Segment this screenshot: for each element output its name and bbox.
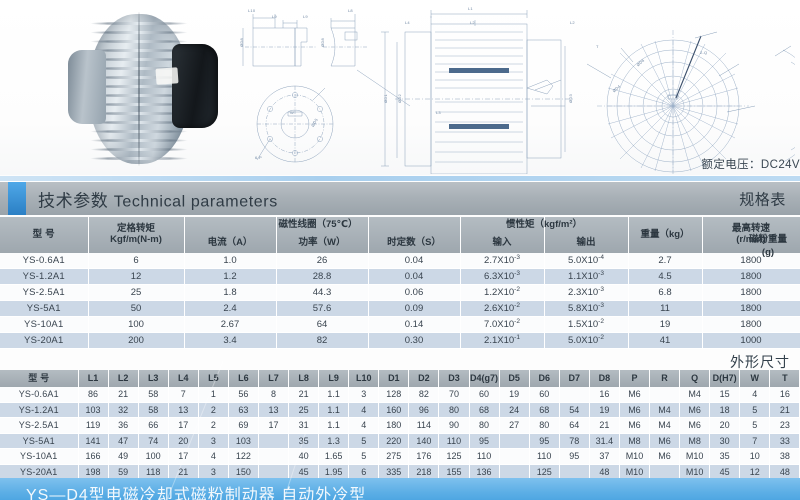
inertia-input-cell: 6.3X10-3 [460,269,544,285]
inertia-input-cell: 7.0X10-2 [460,317,544,333]
dim-cell-L6: 56 [228,387,258,402]
dim-cell-W: 5 [740,402,770,418]
table-row: YS-10A116649100174122401.655275176125110… [0,449,800,465]
dim-cell-P: M8 [619,433,649,449]
inertia-input-cell: 1.2X10-2 [460,285,544,301]
dim-cell-T: 23 [770,418,800,434]
dim-cell-D6: 68 [529,402,559,418]
dim-cell-L8: 31 [289,418,319,434]
max-speed-cell: 1800 [702,317,800,333]
dim-cell-Q: M10 [680,449,710,465]
dim-cell-D5: 24 [499,402,529,418]
dim-cell-D3: 110 [439,433,469,449]
dim-cell-R: M6 [649,433,679,449]
inertia-output-cell: 5.0X10-2 [544,333,628,349]
spec-table-header-row: 型 号 定格转矩 Kgf/m(N-m) 磁性线圈（75℃） 电流（A） 功率（W… [0,217,800,253]
th-inertia-in-label: 输入 [461,238,544,249]
nameplate [155,67,178,84]
th-inertia-group: 惯性矩（kgf/m²） [460,220,544,231]
dim-cell-L7: 8 [258,387,288,402]
table-row: YS-5A11414774203103351.35220140110959578… [0,433,800,449]
dim-cell-L1: 166 [78,449,108,465]
dimension-table-body: YS-0.6A186215871568211.13128827060196016… [0,387,800,480]
coil-case [172,44,218,128]
drawing-label-w: W [290,110,294,115]
dim-cell-W: 10 [740,449,770,465]
time-const-cell: 0.06 [368,285,460,301]
spec-table-body: YS-0.6A161.0260.042.7X10-35.0X10-42.7180… [0,253,800,349]
weight-cell: 41 [628,333,702,349]
section-title: 技术参数 Technical parameters [38,186,278,211]
dim-cell-D4(g7): 95 [469,433,499,449]
dim-cell-D7 [559,387,589,402]
inertia-input-cell: 2.6X10-2 [460,301,544,317]
dimension-table: 型 号L1L2L3L4L5L6L7L8L9L10D1D2D3D4(g7)D5D6… [0,370,800,480]
th-inertia-out-label: 输出 [545,238,628,249]
dim-th-d5: D5 [499,370,529,387]
dim-cell-L2: 47 [108,433,138,449]
dim-cell-W: 4 [740,387,770,402]
dim-cell-L9: 1.1 [319,418,349,434]
table-row: YS-1.2A1121.228.80.046.3X10-31.1X10-34.5… [0,269,800,285]
drawing-label-d1: ØD1 [383,94,388,103]
table-row: YS-10A11002.67640.147.0X10-21.5X10-21918… [0,317,800,333]
dim-cell-D6: 95 [529,433,559,449]
dim-th-d(h7): D(H7) [710,370,740,387]
drawing-label-l2a: L2 [470,20,475,25]
th-powder-label: 磁粉重量 [738,235,798,246]
dim-cell-D2: 176 [409,449,439,465]
drawing-label-holes-6p: 6-P [255,155,262,160]
time-const-cell: 0.09 [368,301,460,317]
dim-cell-L7: 13 [258,402,288,418]
dim-th-l1: L1 [78,370,108,387]
table-row: YS-5A1502.457.60.092.6X10-25.8X10-311180… [0,301,800,317]
dim-cell-L9: 1.1 [319,387,349,402]
dim-cell-L1: 119 [78,418,108,434]
torque-cell: 25 [88,285,184,301]
inertia-input-cell: 2.1X10-1 [460,333,544,349]
dim-cell-D2: 96 [409,402,439,418]
dim-cell-L8: 25 [289,402,319,418]
dim-cell-L2: 36 [108,418,138,434]
dim-cell-D3: 90 [439,418,469,434]
dim-cell-D3: 70 [439,387,469,402]
spec-table: 型 号 定格转矩 Kgf/m(N-m) 磁性线圈（75℃） 电流（A） 功率（W… [0,217,800,349]
dim-cell-D6: 110 [529,449,559,465]
drawing-label-l9a: L9 [272,14,277,19]
dim-cell-Q: M6 [680,418,710,434]
dim-cell-L4: 20 [168,433,198,449]
torque-cell: 200 [88,333,184,349]
dim-cell-D(H7): 35 [710,449,740,465]
current-cell: 2.4 [184,301,276,317]
dim-cell-L4: 17 [168,418,198,434]
dim-cell-L6: 63 [228,402,258,418]
dim-th-l8: L8 [289,370,319,387]
dim-cell-D4(g7): 80 [469,418,499,434]
dim-cell-D(H7): 18 [710,402,740,418]
dim-cell-R: M4 [649,418,679,434]
dim-cell-W: 7 [740,433,770,449]
dim-cell-D2: 140 [409,433,439,449]
dim-th-q: Q [680,370,710,387]
dim-cell-D7: 64 [559,418,589,434]
inertia-output-cell: 5.0X10-4 [544,253,628,269]
th-torque-unit: Kgf/m(N-m) [89,235,184,246]
weight-cell: 19 [628,317,702,333]
model-cell: YS-0.6A1 [0,253,88,269]
weight-cell: 4.5 [628,269,702,285]
dim-cell-L9: 1.3 [319,433,349,449]
dim-cell-L1: 103 [78,402,108,418]
section-title-cn: 技术参数 [38,191,108,210]
dim-cell-L4: 13 [168,402,198,418]
th-powder-unit: (g) [738,248,798,259]
dim-cell-L1: 141 [78,433,108,449]
power-cell: 64 [276,317,368,333]
dim-th-l6: L6 [228,370,258,387]
model-cell: YS-0.6A1 [0,387,78,402]
dim-th-l4: L4 [168,370,198,387]
dim-cell-W: 5 [740,418,770,434]
table-row: YS-2.5A1251.844.30.061.2X10-22.3X10-36.8… [0,285,800,301]
dim-cell-L10: 5 [349,449,379,465]
dim-cell-L4: 7 [168,387,198,402]
time-const-cell: 0.04 [368,253,460,269]
dim-cell-D5: 19 [499,387,529,402]
dim-cell-L2: 32 [108,402,138,418]
model-cell: YS-5A1 [0,433,78,449]
dim-cell-D2: 82 [409,387,439,402]
dim-th-d3: D3 [439,370,469,387]
max-speed-cell: 1800 [702,269,800,285]
drawing-label-l9b: L9 [303,14,308,19]
dim-cell-T: 38 [770,449,800,465]
table-row: YS-20A12003.4820.302.1X10-15.0X10-241100… [0,333,800,349]
th-model: 型 号 [0,217,88,253]
dimension-table-wrapper: 型 号L1L2L3L4L5L6L7L8L9L10D1D2D3D4(g7)D5D6… [0,370,800,480]
dim-cell-L5: 2 [198,402,228,418]
dim-cell-R: M6 [649,449,679,465]
torque-cell: 50 [88,301,184,317]
dim-cell-D(H7): 30 [710,433,740,449]
dim-cell-D7: 95 [559,449,589,465]
weight-cell: 6.8 [628,285,702,301]
th-inertia-in: 惯性矩（kgf/m²） 输入 [460,217,544,253]
dim-cell-L3: 100 [138,449,168,465]
max-speed-cell: 1800 [702,301,800,317]
dim-cell-D4(g7): 60 [469,387,499,402]
model-cell: YS-2.5A1 [0,418,78,434]
dimension-table-header-row: 型 号L1L2L3L4L5L6L7L8L9L10D1D2D3D4(g7)D5D6… [0,370,800,387]
model-cell: YS-20A1 [0,333,88,349]
current-cell: 2.67 [184,317,276,333]
current-cell: 1.0 [184,253,276,269]
time-const-cell: 0.14 [368,317,460,333]
banner-accent-bar [8,182,26,215]
dim-cell-L8: 35 [289,433,319,449]
dim-cell-L6: 122 [228,449,258,465]
dim-cell-D5: 27 [499,418,529,434]
dim-cell-L8: 21 [289,387,319,402]
dim-cell-L3: 58 [138,387,168,402]
drawing-label-l3: L3 [436,110,441,115]
drawing-label-l4: L4 [405,20,410,25]
dim-cell-D3: 125 [439,449,469,465]
power-cell: 44.3 [276,285,368,301]
table-row: YS-0.6A186215871568211.13128827060196016… [0,387,800,402]
dim-th-p: P [619,370,649,387]
dim-cell-P: M6 [619,402,649,418]
inertia-output-cell: 1.5X10-2 [544,317,628,333]
dim-cell-D8: 21 [589,418,619,434]
dim-th-l2: L2 [108,370,138,387]
inertia-output-cell: 2.3X10-3 [544,285,628,301]
dim-cell-P: M6 [619,418,649,434]
drawing-label-d2: ØD2 [397,94,402,103]
model-cell: YS-1.2A1 [0,269,88,285]
table-row: YS-0.6A161.0260.042.7X10-35.0X10-42.7180… [0,253,800,269]
th-time-const-label: 时定数（S） [369,238,460,249]
th-coil-group: 磁性线圈（75℃） [184,220,276,231]
max-speed-cell: 1000 [702,333,800,349]
current-cell: 1.2 [184,269,276,285]
dim-cell-T: 33 [770,433,800,449]
dim-cell-Q: M8 [680,433,710,449]
th-power-label: 功率（W） [277,238,368,249]
table-row: YS-2.5A111936661726917311.14180114908027… [0,418,800,434]
model-cell: YS-1.2A1 [0,402,78,418]
drawing-label-l8: L8 [348,8,353,13]
dim-th-t: T [770,370,800,387]
weight-cell: 2.7 [628,253,702,269]
dim-cell-D3: 80 [439,402,469,418]
drawing-label-holes-2q: 2-Q [700,50,707,55]
dim-cell-T: 16 [770,387,800,402]
dim-cell-L7 [258,449,288,465]
dim-th-l7: L7 [258,370,288,387]
dim-cell-L3: 66 [138,418,168,434]
model-cell: YS-10A1 [0,317,88,333]
dim-cell-D4(g7): 68 [469,402,499,418]
illustration-area: L10 L9 L9 L8 ØD8 ØD8 6-P W ØD5 L1 L4 L2 … [0,0,800,175]
max-speed-cell: 1800 [702,285,800,301]
dim-cell-D1: 160 [379,402,409,418]
dim-cell-L7 [258,433,288,449]
dim-th-d4(g7): D4(g7) [469,370,499,387]
dimension-section-title: 外形尺寸 [730,352,790,372]
dim-th-w: W [740,370,770,387]
current-cell: 1.8 [184,285,276,301]
dim-cell-D1: 128 [379,387,409,402]
table-row: YS-1.2A110332581326313251.14160968068246… [0,402,800,418]
dim-cell-R [649,387,679,402]
footer-bar: YS—D4型电磁冷却式磁粉制动器 自动外冷型 [0,478,800,500]
dim-cell-L6: 103 [228,433,258,449]
spec-table-wrapper: 型 号 定格转矩 Kgf/m(N-m) 磁性线圈（75℃） 电流（A） 功率（W… [0,217,800,349]
dim-cell-D1: 275 [379,449,409,465]
time-const-cell: 0.30 [368,333,460,349]
model-cell: YS-2.5A1 [0,285,88,301]
dim-cell-L10: 5 [349,433,379,449]
drawing-label-d8b: ØD8 [320,38,325,47]
dim-cell-L2: 21 [108,387,138,402]
dim-cell-L9: 1.1 [319,402,349,418]
th-current: 磁性线圈（75℃） 电流（A） [184,217,276,253]
th-torque: 定格转矩 Kgf/m(N-m) [88,217,184,253]
dim-cell-T: 21 [770,402,800,418]
product-photo [60,4,225,169]
dim-th-d7: D7 [559,370,589,387]
torque-cell: 6 [88,253,184,269]
dim-cell-L10: 3 [349,387,379,402]
dim-cell-D5 [499,449,529,465]
th-weight: 重量（kg） [628,217,702,253]
model-cell: YS-10A1 [0,449,78,465]
dim-cell-L10: 4 [349,402,379,418]
inertia-output-cell: 5.8X10-3 [544,301,628,317]
dim-cell-D(H7): 20 [710,418,740,434]
dim-cell-L5: 3 [198,433,228,449]
dim-th-d8: D8 [589,370,619,387]
dim-cell-L5: 2 [198,418,228,434]
inertia-input-cell: 2.7X10-3 [460,253,544,269]
dim-cell-L10: 4 [349,418,379,434]
dim-th-l10: L10 [349,370,379,387]
power-cell: 26 [276,253,368,269]
dim-cell-L3: 58 [138,402,168,418]
section-title-en: Technical parameters [114,193,278,210]
dim-th-d1: D1 [379,370,409,387]
dim-cell-L6: 69 [228,418,258,434]
dim-cell-D5 [499,433,529,449]
dim-th-d2: D2 [409,370,439,387]
dim-th-l5: L5 [198,370,228,387]
drawing-label-t: T [596,44,599,49]
dim-cell-L5: 4 [198,449,228,465]
time-const-cell: 0.04 [368,269,460,285]
footer-text: YS—D4型电磁冷却式磁粉制动器 自动外冷型 [26,481,366,500]
dim-th-l3: L3 [138,370,168,387]
dim-cell-L3: 74 [138,433,168,449]
dim-cell-L1: 86 [78,387,108,402]
dim-cell-Q: M6 [680,402,710,418]
model-cell: YS-5A1 [0,301,88,317]
dim-th-l9: L9 [319,370,349,387]
engineering-drawings [235,2,795,174]
section-banner: 技术参数 Technical parameters 规格表 [0,181,800,215]
dim-cell-L9: 1.65 [319,449,349,465]
inertia-output-cell: 1.1X10-3 [544,269,628,285]
th-current-label: 电流（A） [185,238,276,249]
rated-voltage-note: 额定电压：DC24V [701,156,800,172]
dim-cell-L2: 49 [108,449,138,465]
torque-cell: 100 [88,317,184,333]
drawing-label-d3: ØD3 [568,94,573,103]
dim-cell-D1: 180 [379,418,409,434]
dim-th-r: R [649,370,679,387]
dim-cell-D8: 19 [589,402,619,418]
dim-cell-D7: 78 [559,433,589,449]
torque-cell: 12 [88,269,184,285]
spec-sheet-page: L10 L9 L9 L8 ØD8 ØD8 6-P W ØD5 L1 L4 L2 … [0,0,800,500]
drawing-label-d8a: ØD8 [239,38,244,47]
dim-cell-D8: 16 [589,387,619,402]
dim-cell-L8: 40 [289,449,319,465]
dim-cell-D4(g7): 110 [469,449,499,465]
power-cell: 28.8 [276,269,368,285]
dim-cell-D6: 60 [529,387,559,402]
dim-cell-D6: 80 [529,418,559,434]
dim-cell-L5: 1 [198,387,228,402]
dim-cell-D1: 220 [379,433,409,449]
shaft-hub [68,50,106,124]
power-cell: 57.6 [276,301,368,317]
dim-cell-P: M6 [619,387,649,402]
dim-cell-P: M10 [619,449,649,465]
banner-right-label: 规格表 [739,188,786,209]
housing-band [138,12,140,166]
power-cell: 82 [276,333,368,349]
dim-cell-L4: 17 [168,449,198,465]
dim-cell-Q: M4 [680,387,710,402]
weight-cell: 11 [628,301,702,317]
drawing-label-l2b: L2 [570,20,575,25]
dim-cell-R: M4 [649,402,679,418]
dim-cell-D2: 114 [409,418,439,434]
dim-cell-D(H7): 15 [710,387,740,402]
dim-th-d6: D6 [529,370,559,387]
dim-cell-L7: 17 [258,418,288,434]
current-cell: 3.4 [184,333,276,349]
dim-cell-D8: 37 [589,449,619,465]
drawing-label-l1: L1 [468,6,473,11]
dim-cell-D7: 54 [559,402,589,418]
drawing-label-l10: L10 [248,8,255,13]
dim-cell-D8: 31.4 [589,433,619,449]
dim-th-model: 型 号 [0,370,78,387]
